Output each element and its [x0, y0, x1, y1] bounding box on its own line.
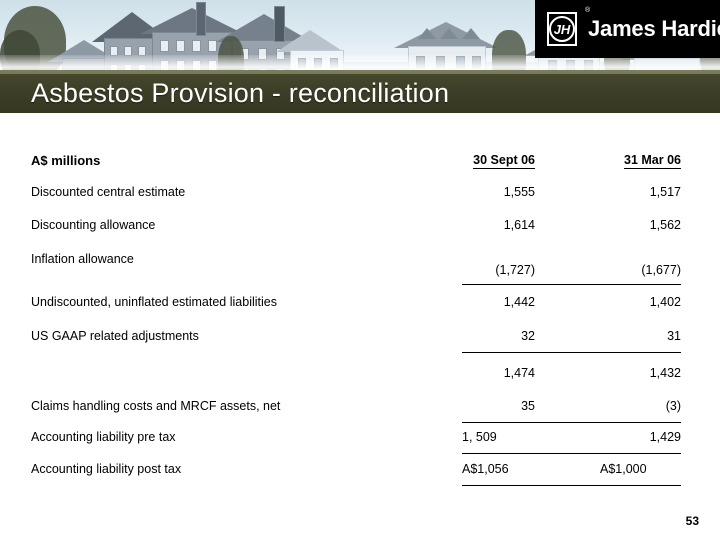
row-value-sept06: 1,555 — [400, 183, 535, 202]
table-row: Accounting liability post tax A$1,056 A$… — [0, 460, 720, 479]
row-value-sept06: 1,614 — [400, 216, 535, 235]
column-header-mar06: 31 Mar 06 — [546, 151, 681, 170]
table-rule — [462, 284, 681, 285]
table-header-row: A$ millions 30 Sept 06 31 Mar 06 — [0, 151, 720, 170]
row-value-sept06: (1,727) — [400, 261, 535, 280]
table-row: Undiscounted, uninflated estimated liabi… — [0, 293, 720, 312]
table-rule — [462, 453, 681, 454]
chimney-shape — [196, 2, 206, 36]
row-value-mar06: (1,677) — [546, 261, 681, 280]
window-shape — [176, 40, 185, 52]
page-title: Asbestos Provision - reconciliation — [31, 77, 449, 110]
dormer-shape — [440, 28, 458, 39]
dormer-shape — [462, 28, 480, 39]
row-value-mar06: A$1,000 — [600, 460, 720, 479]
row-value-mar06: 1,432 — [546, 364, 681, 383]
table-row: 1,474 1,432 — [0, 364, 720, 383]
row-value-sept06: 35 — [400, 397, 535, 416]
table-row: Claims handling costs and MRCF assets, n… — [0, 397, 720, 416]
roof-shape — [276, 30, 344, 52]
table-row: Discounted central estimate 1,555 1,517 — [0, 183, 720, 202]
dormer-shape — [418, 28, 436, 39]
jh-monogram-text: JH — [549, 16, 575, 42]
row-label: Accounting liability pre tax — [31, 428, 176, 447]
jh-monogram-icon: JH — [547, 12, 577, 46]
table-row: US GAAP related adjustments 32 31 — [0, 327, 720, 346]
row-value-mar06: 1,402 — [546, 293, 681, 312]
brand-logo: JH ® James Hardie — [535, 0, 720, 58]
row-label: Discounting allowance — [31, 216, 155, 235]
row-value-mar06: 1,517 — [546, 183, 681, 202]
table-row: Discounting allowance 1,614 1,562 — [0, 216, 720, 235]
brand-name: James Hardie — [588, 16, 720, 42]
unit-header: A$ millions — [31, 151, 100, 170]
row-label: Accounting liability post tax — [31, 460, 181, 479]
slide: Asbestos Provision - reconciliation JH ®… — [0, 0, 720, 540]
row-value-mar06: (3) — [546, 397, 681, 416]
table-rule — [462, 422, 681, 423]
table-rule — [462, 352, 681, 353]
row-label: Discounted central estimate — [31, 183, 185, 202]
window-shape — [160, 40, 169, 52]
row-value-sept06: 1,442 — [400, 293, 535, 312]
row-value-mar06: 1,562 — [546, 216, 681, 235]
asbestos-provision-table: A$ millions 30 Sept 06 31 Mar 06 Discoun… — [0, 113, 720, 503]
page-number: 53 — [686, 514, 699, 528]
window-shape — [192, 40, 201, 52]
row-label: Undiscounted, uninflated estimated liabi… — [31, 293, 277, 312]
column-header-sept06: 30 Sept 06 — [400, 151, 535, 170]
row-value-mar06: 1,429 — [546, 428, 681, 447]
row-value-sept06: 32 — [400, 327, 535, 346]
table-rule — [462, 485, 681, 486]
row-label: Claims handling costs and MRCF assets, n… — [31, 397, 280, 416]
row-value-sept06: A$1,056 — [462, 460, 582, 479]
registered-trademark-icon: ® — [585, 7, 590, 14]
row-label: US GAAP related adjustments — [31, 327, 199, 346]
table-row-values: (1,727) (1,677) — [0, 261, 720, 280]
table-row: Accounting liability pre tax 1, 509 1,42… — [0, 428, 720, 447]
row-value-sept06: 1,474 — [400, 364, 535, 383]
row-value-mar06: 31 — [546, 327, 681, 346]
